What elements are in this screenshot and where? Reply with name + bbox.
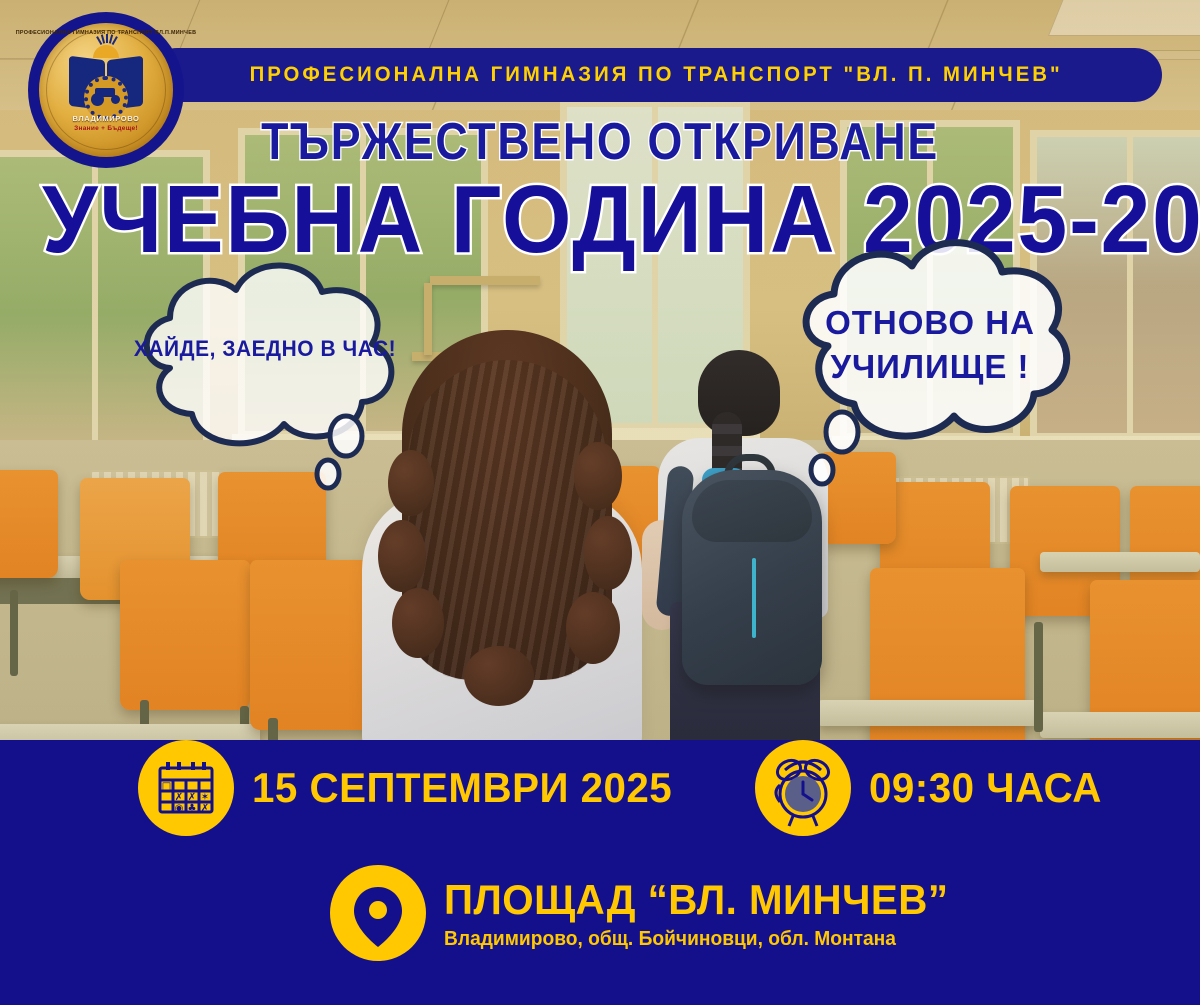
svg-text:♣: ♣	[188, 803, 197, 814]
logo-town-text: ВЛАДИМИРОВО	[73, 114, 140, 123]
svg-text:✗: ✗	[188, 792, 196, 803]
chair	[0, 470, 58, 578]
logo-motto-text: Знание + Бъдеще!	[74, 125, 138, 132]
event-date-item: □ ✗ ✗ ✶ ◉ ♣ ✗ 15 СЕПТЕМВРИ 2025	[138, 740, 690, 836]
calendar-icon: □ ✗ ✗ ✶ ◉ ♣ ✗	[138, 740, 234, 836]
school-name-bar: ПРОФЕСИОНАЛНА ГИМНАЗИЯ ПО ТРАНСПОРТ "ВЛ.…	[150, 48, 1162, 102]
event-subtitle: ТЪРЖЕСТВЕНО ОТКРИВАНЕ	[84, 112, 1116, 172]
svg-text:✶: ✶	[201, 792, 209, 803]
event-place-name: ПЛОЩАД “ВЛ. МИНЧЕВ”	[444, 876, 949, 924]
bubble-left-text: ХАЙДЕ, ЗАЕДНО В ЧАС!	[108, 336, 422, 362]
desk	[1040, 712, 1200, 738]
thought-bubble-left: ХАЙДЕ, ЗАЕДНО В ЧАС!	[100, 248, 430, 498]
event-date-text: 15 СЕПТЕМВРИ 2025	[252, 764, 672, 812]
event-time-item: 09:30 ЧАСА	[755, 740, 1112, 836]
svg-text:✗: ✗	[175, 792, 183, 803]
tractor-icon	[91, 86, 121, 106]
bubble-right-line1: ОТНОВО НА	[780, 304, 1080, 342]
event-info-bar: □ ✗ ✗ ✶ ◉ ♣ ✗ 15 СЕПТЕМВРИ 2025	[0, 740, 1200, 1005]
school-logo-icon: ПРОФЕСИОНАЛНА ГИМНАЗИЯ ПО ТРАНСПОРТ ВЛ.П…	[28, 12, 184, 168]
svg-text:✗: ✗	[201, 803, 209, 814]
wall-shelf-top	[430, 276, 540, 285]
chair	[120, 560, 250, 710]
thought-bubble-right: ОТНОВО НА УЧИЛИЩЕ !	[780, 236, 1080, 496]
alarm-clock-icon	[755, 740, 851, 836]
svg-text:□: □	[162, 781, 171, 792]
school-name-text: ПРОФЕСИОНАЛНА ГИМНАЗИЯ ПО ТРАНСПОРТ "ВЛ.…	[249, 63, 1062, 87]
event-place-address: Владимирово, общ. Бойчиновци, обл. Монта…	[444, 928, 949, 951]
bubble-right-line2: УЧИЛИЩЕ !	[780, 348, 1080, 386]
event-place-item: ПЛОЩАД “ВЛ. МИНЧЕВ” Владимирово, общ. Бо…	[330, 865, 970, 961]
location-pin-icon	[330, 865, 426, 961]
desk	[1040, 552, 1200, 572]
poster-root: ПРОФЕСИОНАЛНА ГИМНАЗИЯ ПО ТРАНСПОРТ "ВЛ.…	[0, 0, 1200, 1005]
svg-text:◉: ◉	[175, 803, 184, 814]
event-time-text: 09:30 ЧАСА	[869, 764, 1102, 812]
